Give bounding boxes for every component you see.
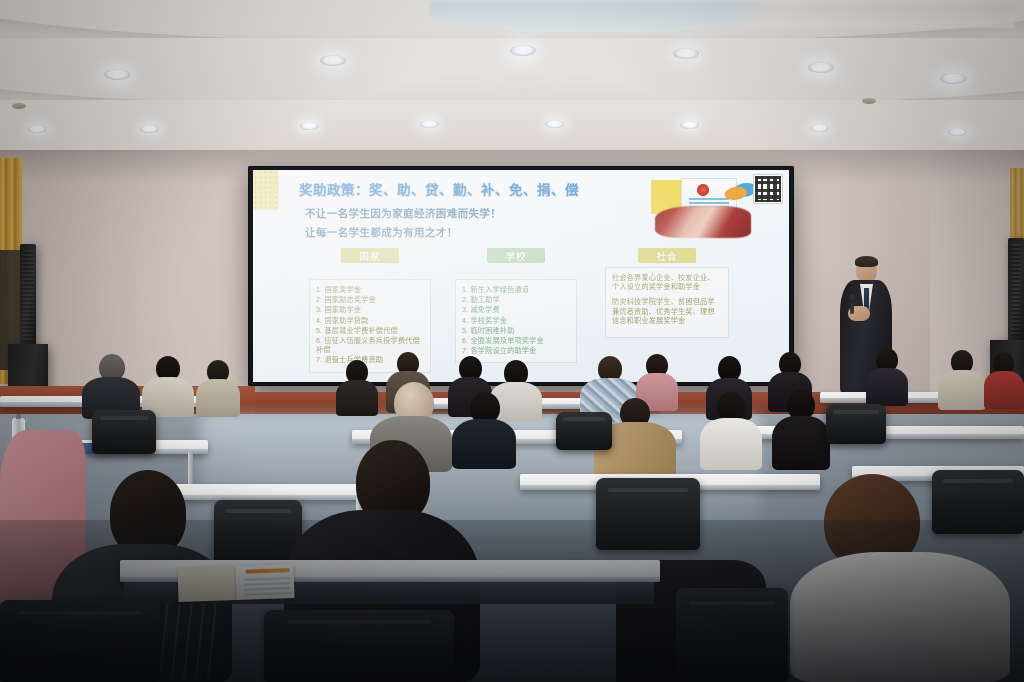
- artwork-bird-icon: [722, 180, 757, 206]
- slide-column-society: 社会 社会各界爱心企业、校友企业、个人设立的奖学金和助学金 防灾科技学院学生、贫…: [605, 248, 729, 338]
- lecture-hall-photo: 奖助政策：奖、助、贷、勤、补、免、捐、偿 不让一名学生因为家庭经济困难而失学！ …: [0, 0, 1024, 682]
- paragraph: 社会各界爱心企业、校友企业、个人设立的奖学金和助学金: [612, 273, 722, 291]
- qr-code-icon[interactable]: [753, 174, 783, 204]
- list-item: 2. 国家励志奖学金: [316, 295, 424, 304]
- list-item: 5. 基层就业学费补偿代偿: [316, 326, 424, 335]
- microphone-icon: [850, 298, 854, 314]
- list-item: 5. 临时困难补助: [462, 326, 570, 335]
- attendee-cream: [938, 350, 986, 408]
- downlight-icon: [104, 69, 130, 80]
- slide-corner-ornament: [253, 170, 279, 210]
- attendee-grey-suit: [82, 354, 140, 416]
- column-heading: 国家: [341, 248, 399, 263]
- downlight-icon: [420, 120, 439, 128]
- list-item: 6. 全面发展及单项奖学金: [462, 336, 570, 345]
- chair: [556, 412, 612, 450]
- ceiling: [0, 0, 1024, 168]
- list-item: 1. 国家奖学金: [316, 285, 424, 294]
- list-item: 4. 学校奖学金: [462, 316, 570, 325]
- attendee-black-top: [772, 390, 830, 466]
- attendee-white-blouse: [700, 392, 762, 466]
- paragraph: 防灾科技学院学生、贫困但品学兼优者资助、优秀学生奖、理想信念和职业发展奖学金: [612, 297, 722, 325]
- attendee-white-top: [142, 356, 194, 414]
- downlight-icon: [940, 73, 966, 84]
- skylight-panel: [430, 2, 760, 32]
- slide-artwork: [651, 176, 759, 240]
- downlight-icon: [545, 120, 564, 128]
- skylight-panel-2: [745, 6, 1015, 28]
- projection-screen[interactable]: 奖助政策：奖、助、贷、勤、补、免、捐、偿 不让一名学生因为家庭经济困难而失学！ …: [253, 170, 789, 382]
- artwork-seal-icon: [697, 184, 709, 196]
- list-item: 1. 新生入学绿色通道: [462, 285, 570, 294]
- slide-subtitle-1: 不让一名学生因为家庭经济困难而失学！: [305, 206, 501, 221]
- slide-title: 奖助政策：奖、助、贷、勤、补、免、捐、偿: [299, 179, 629, 199]
- list-item: 3. 减免学费: [462, 305, 570, 314]
- presenter-hair: [855, 256, 878, 267]
- column-list: 1. 新生入学绿色通道 2. 勤工助学 3. 减免学费 4. 学校奖学金 5. …: [455, 279, 577, 363]
- downlight-icon: [673, 48, 699, 59]
- attendee-beige: [196, 360, 240, 414]
- floor-foreground-shadow: [0, 520, 1024, 682]
- column-paragraphs: 社会各界爱心企业、校友企业、个人设立的奖学金和助学金 防灾科技学院学生、贫困但品…: [605, 267, 729, 338]
- chair: [826, 404, 886, 444]
- list-item: 4. 国家助学贷款: [316, 316, 424, 325]
- speaker-tower-right: [1008, 238, 1024, 342]
- slide-subtitle-2: 让每一名学生都成为有用之才！: [305, 225, 458, 240]
- smoke-detector-icon: [862, 98, 876, 104]
- list-item: 2. 勤工助学: [462, 295, 570, 304]
- downlight-icon: [948, 128, 967, 136]
- smoke-detector-icon: [12, 103, 26, 109]
- speaker-grill: [23, 250, 33, 342]
- downlight-icon: [808, 62, 834, 73]
- column-heading: 学校: [487, 248, 545, 263]
- downlight-icon: [510, 45, 536, 56]
- speaker-grill: [1011, 244, 1021, 336]
- column-heading: 社会: [638, 248, 696, 263]
- speaker-tower-left: [20, 244, 36, 348]
- downlight-icon: [680, 121, 699, 129]
- attendee-red-jacket: [984, 352, 1024, 408]
- downlight-icon: [810, 124, 829, 132]
- downlight-icon: [28, 125, 47, 133]
- downlight-icon: [140, 125, 159, 133]
- artwork-hands: [655, 206, 751, 238]
- chair: [92, 410, 156, 454]
- downlight-icon: [320, 55, 346, 66]
- attendee-dark-3: [866, 348, 908, 404]
- list-item: 3. 国家助学金: [316, 305, 424, 314]
- downlight-icon: [300, 122, 319, 130]
- list-item: 7. 各学院设立的助学金: [462, 346, 570, 355]
